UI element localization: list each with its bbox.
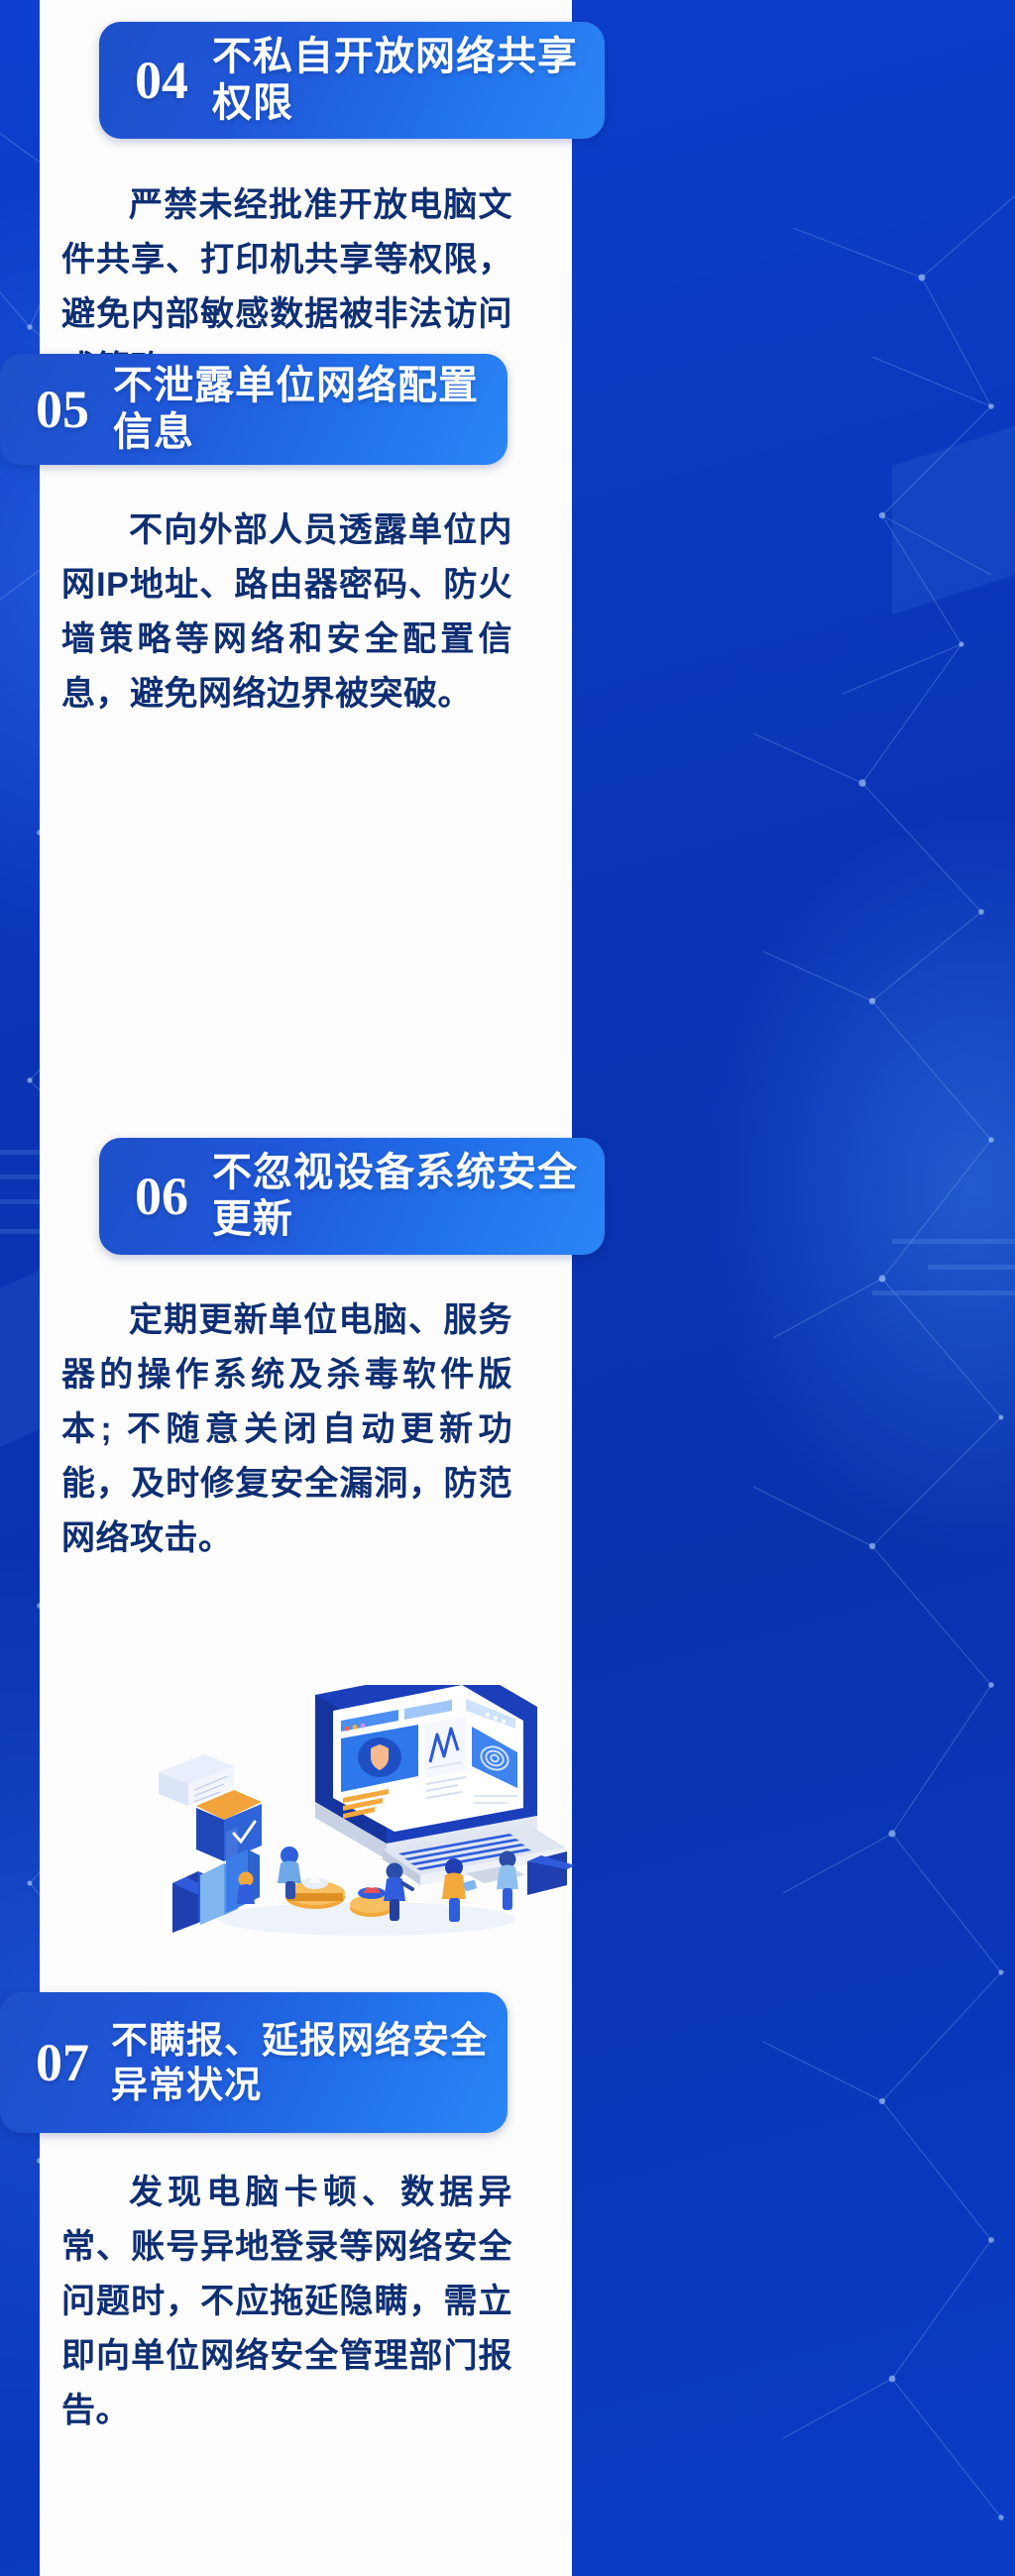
section-04-title: 不私自开放网络共享权限	[212, 34, 605, 127]
section-07-number: 07	[36, 2036, 89, 2089]
section-05-title: 不泄露单位网络配置信息	[113, 363, 507, 456]
section-06-body: 定期更新单位电脑、服务器的操作系统及杀毒软件版本; 不随意关闭自动更新功能，及时…	[61, 1293, 512, 1566]
section-07-title-line-2: 异常状况	[111, 2065, 262, 2105]
person-figure-back	[237, 1872, 255, 1905]
section-07-banner[interactable]: 07 不瞒报、延报网络安全 异常状况	[0, 1992, 507, 2133]
section-07-body: 发现电脑卡顿、数据异常、账号异地登录等网络安全问题时，不应拖延隐瞒，需立即向单位…	[61, 2166, 512, 2438]
section-06-banner[interactable]: 06 不忽视设备系统安全更新	[99, 1138, 605, 1255]
laptop-device	[315, 1685, 565, 1885]
section-07-title: 不瞒报、延报网络安全 异常状况	[111, 2018, 488, 2107]
section-05-banner[interactable]: 05 不泄露单位网络配置信息	[0, 354, 507, 465]
section-06-title: 不忽视设备系统安全更新	[212, 1150, 605, 1243]
isometric-laptop-security-illustration	[139, 1685, 575, 1943]
section-07-title-line-1: 不瞒报、延报网络安全	[111, 2020, 488, 2061]
section-06-number: 06	[135, 1170, 188, 1223]
section-04-number: 04	[135, 54, 188, 107]
section-05-body: 不向外部人员透露单位内网IP地址、路由器密码、防火墙策略等网络和安全配置信息，避…	[61, 504, 512, 722]
person-figure-standing	[497, 1851, 518, 1911]
waveform-chart	[424, 1717, 466, 1778]
section-05-number: 05	[36, 383, 89, 436]
checklist-folder	[196, 1790, 262, 1861]
section-04-banner[interactable]: 04 不私自开放网络共享权限	[99, 22, 605, 139]
